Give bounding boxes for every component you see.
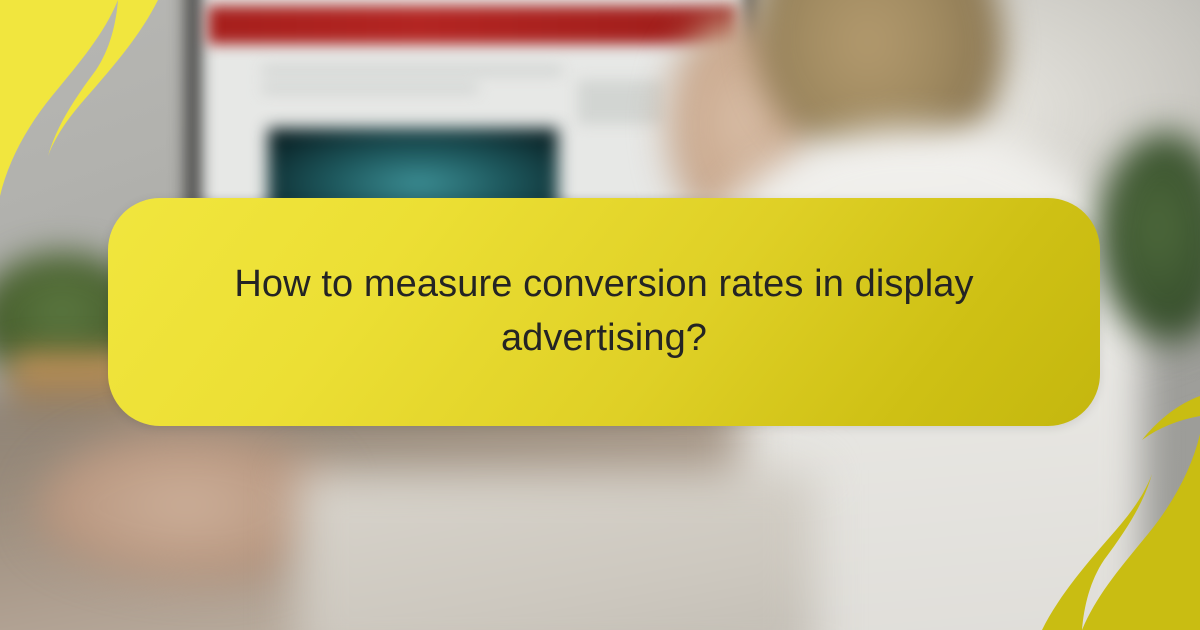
question-text: How to measure conversion rates in displ… <box>224 258 984 366</box>
poster-canvas: How to measure conversion rates in displ… <box>0 0 1200 630</box>
background-monitor-text-lines <box>262 66 562 96</box>
background-monitor-side-card <box>578 80 664 124</box>
background-monitor-red-banner <box>208 6 736 44</box>
background-foreground-cloth <box>296 470 816 630</box>
question-card: How to measure conversion rates in displ… <box>108 198 1100 426</box>
background-foreground-hand <box>36 430 336 580</box>
